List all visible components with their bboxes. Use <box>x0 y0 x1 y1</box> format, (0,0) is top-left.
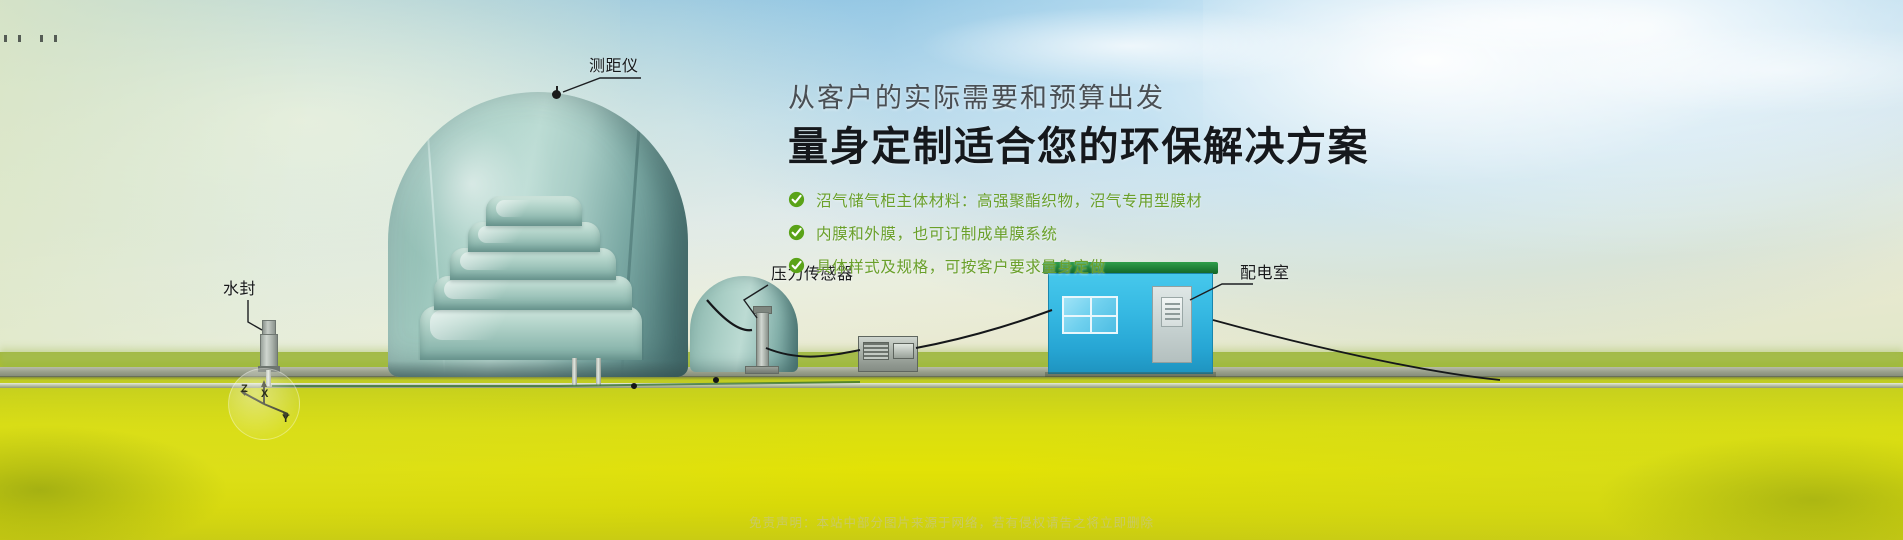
bullet-text: 具体样式及规格，可按客户要求量身定做 <box>816 255 1106 277</box>
list-item: 内膜和外膜，也可订制成单膜系统 <box>788 222 1428 244</box>
leader-line-pressure-sensor <box>744 285 768 318</box>
leader-line-water-seal <box>248 300 262 330</box>
list-item: 沼气储气柜主体材料：高强聚酯织物，沼气专用型膜材 <box>788 189 1428 211</box>
feature-bullet-list: 沼气储气柜主体材料：高强聚酯织物，沼气专用型膜材 内膜和外膜，也可订制成单膜系统 <box>788 189 1428 277</box>
axis-label-z: Z <box>241 383 248 395</box>
axis-label-y: Y <box>282 413 289 425</box>
check-circle-icon <box>788 191 805 208</box>
label-rangefinder: 测距仪 <box>589 58 639 76</box>
cable-sensor-to-blower <box>766 348 860 357</box>
bullet-text: 内膜和外膜，也可订制成单膜系统 <box>816 222 1058 244</box>
pipe-valve-marker <box>713 377 719 383</box>
banner-headline: 量身定制适合您的环保解决方案 <box>788 124 1428 171</box>
pipe-valve-marker <box>631 383 637 389</box>
bullet-text: 沼气储气柜主体材料：高强聚酯织物，沼气专用型膜材 <box>816 189 1202 211</box>
cable-dome-to-sensor <box>707 300 752 330</box>
check-circle-icon <box>788 257 805 274</box>
axis-label-x: X <box>261 388 268 400</box>
cable-blower-to-house <box>916 310 1052 348</box>
marketing-copy-block: 从客户的实际需要和预算出发 量身定制适合您的环保解决方案 沼气储气柜主体材料：高… <box>788 82 1428 288</box>
banner-subtitle: 从客户的实际需要和预算出发 <box>788 82 1428 116</box>
leader-line-rangefinder <box>563 78 641 92</box>
axis-orientation-gizmo <box>228 368 300 440</box>
disclaimer-text: 免责声明：本站中部分图片来源于网络，若有侵权请告之将立即删除 <box>0 512 1903 531</box>
label-water-seal: 水封 <box>223 281 256 299</box>
hero-banner: Z X Y 测距仪 水封 压力传感器 配电室 从客户的实际需要和预算出发 量身定… <box>0 0 1903 540</box>
check-circle-icon <box>788 224 805 241</box>
cable-house-to-field <box>1213 320 1500 380</box>
buried-pipe-run <box>272 382 860 386</box>
list-item: 具体样式及规格，可按客户要求量身定做 <box>788 255 1428 277</box>
